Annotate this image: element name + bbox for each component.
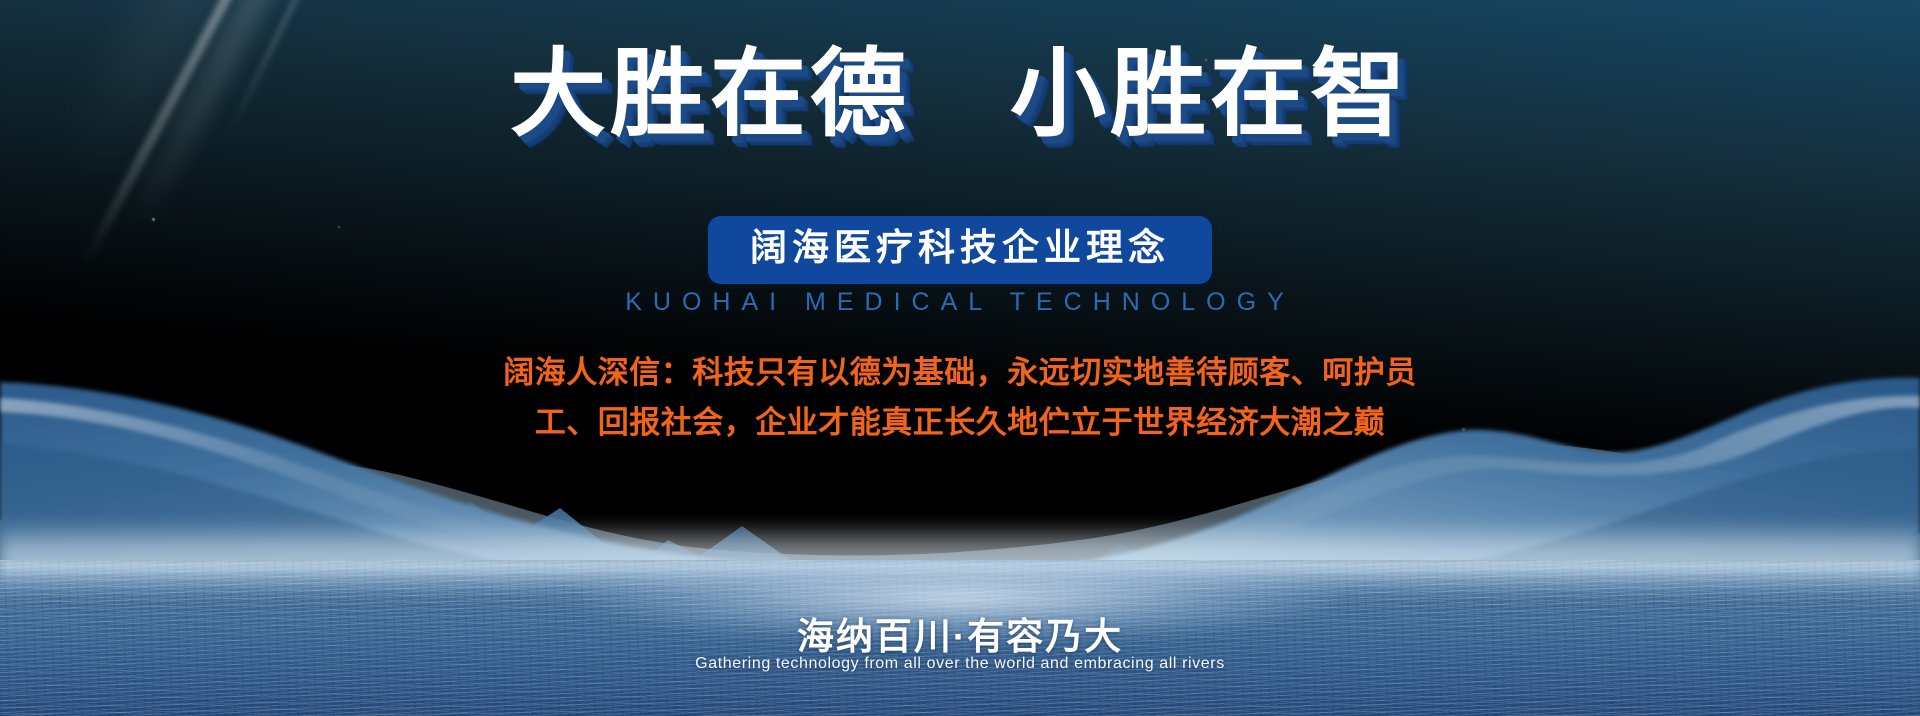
- motto-english: Gathering technology from all over the w…: [0, 655, 1920, 673]
- philosophy-badge-wrapper: 阔海医疗科技企业理念: [0, 216, 1920, 284]
- philosophy-badge: 阔海医疗科技企业理念: [708, 216, 1212, 284]
- company-philosophy-banner: 大胜在德 小胜在智 阔海医疗科技企业理念 KUOHAI MEDICAL TECH…: [0, 0, 1920, 716]
- philosophy-paragraph-line-1: 阔海人深信：科技只有以德为基础，永远切实地善待顾客、呵护员: [0, 348, 1920, 398]
- headline-slogan: 大胜在德 小胜在智: [0, 44, 1920, 146]
- motto-chinese: 海纳百川·有容乃大: [0, 606, 1920, 660]
- philosophy-paragraph: 阔海人深信：科技只有以德为基础，永远切实地善待顾客、呵护员 工、回报社会，企业才…: [0, 348, 1920, 448]
- banner-content: 大胜在德 小胜在智 阔海医疗科技企业理念 KUOHAI MEDICAL TECH…: [0, 0, 1920, 716]
- philosophy-paragraph-line-2: 工、回报社会，企业才能真正长久地伫立于世界经济大潮之巅: [0, 398, 1920, 448]
- english-subtitle: KUOHAI MEDICAL TECHNOLOGY: [0, 288, 1920, 317]
